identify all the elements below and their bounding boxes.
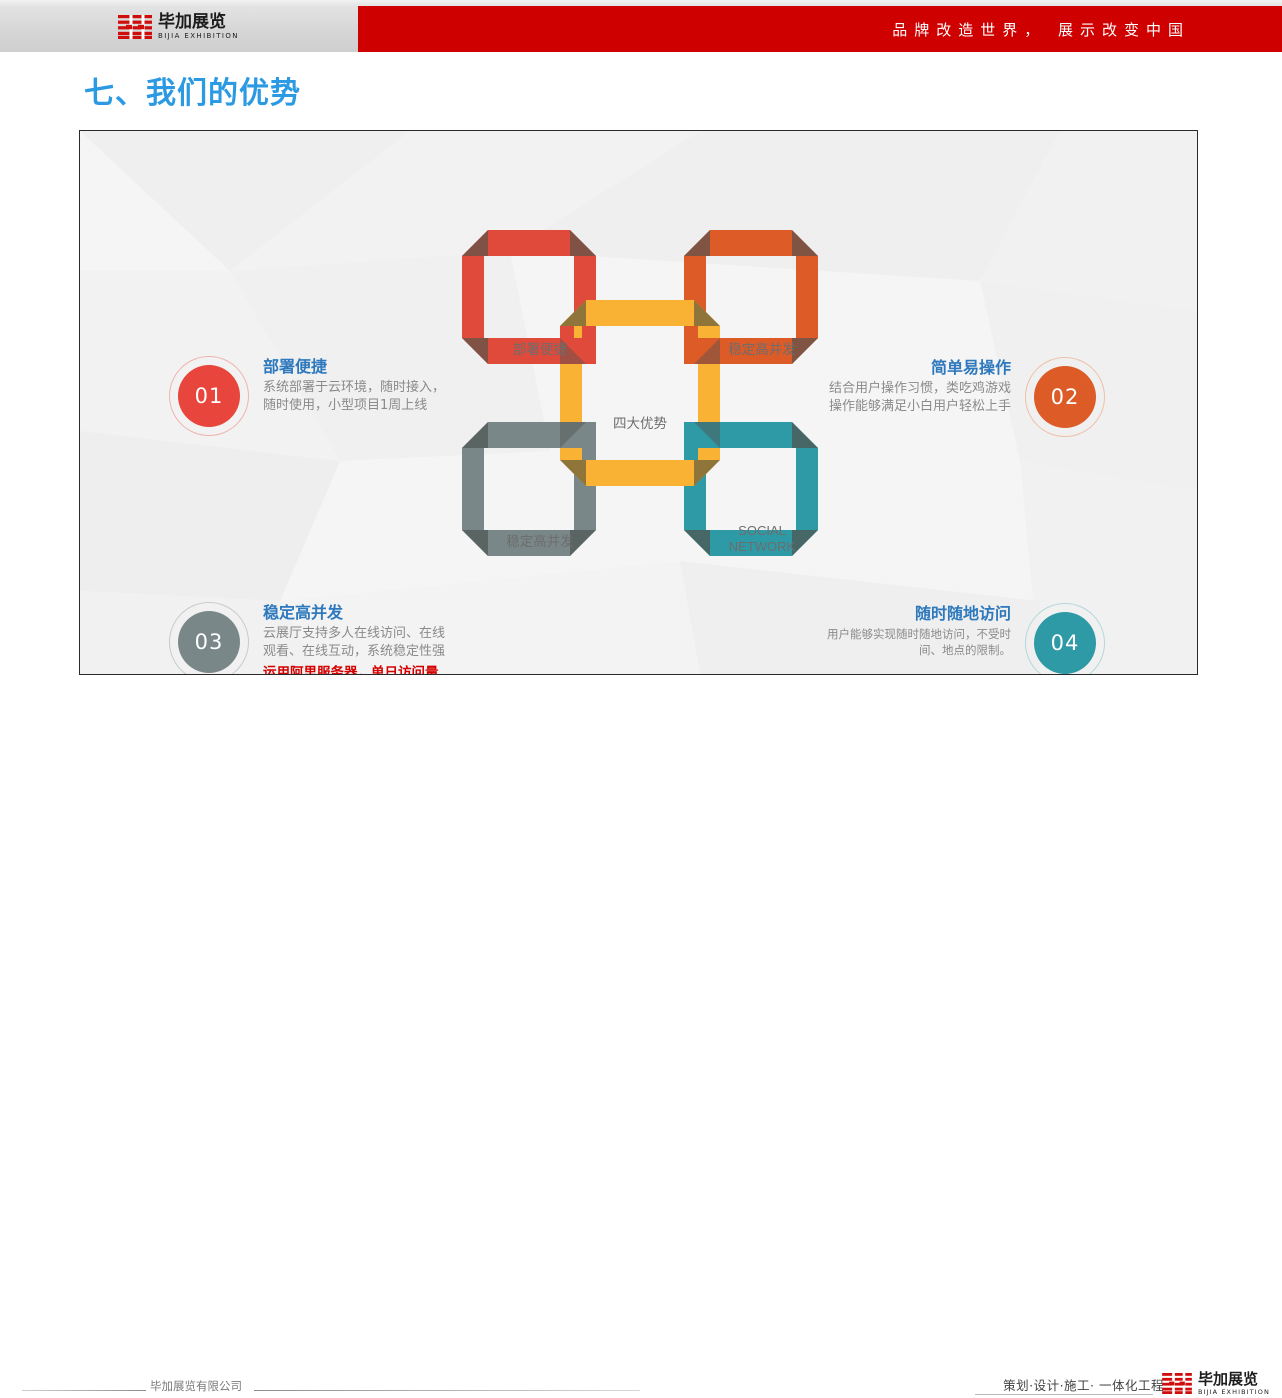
feature-04-body: 用户能够实现随时随地访问，不受时间、地点的限制。 [825, 626, 1011, 659]
page-title: 七、我们的优势 [84, 68, 301, 112]
bijia-mark-svg [118, 15, 152, 39]
chain-label-bottom-right: SOCIAL NETWORK [706, 523, 818, 556]
feature-02-ring: 02 [1025, 357, 1105, 437]
footer-logo-text-en: BIJIA EXHIBITION [1198, 1389, 1270, 1396]
feature-block-04[interactable]: 随时随地访问 用户能够实现随时随地访问，不受时间、地点的限制。 04 [825, 603, 1105, 675]
header-slogan: 品牌改造世界， 展示改变中国 [892, 6, 1190, 52]
feature-04-number-badge: 04 [1034, 612, 1096, 674]
feature-01-body: 系统部署于云环境，随时接入，随时使用，小型项目1周上线 [263, 379, 445, 416]
chain-label-bottom-left: 稳定高并发 [484, 534, 596, 551]
bijia-logo-icon [118, 15, 152, 39]
footer-divider-right [254, 1390, 640, 1391]
footer-tagline-underline [975, 1394, 1153, 1395]
logo-text-en: BIJIA EXHIBITION [158, 33, 239, 40]
footer-brand-logo: 毕加展览 BIJIA EXHIBITION [1162, 1372, 1270, 1396]
page-footer: 毕加展览有限公司 策划·设计·施工· 一体化工程 毕加展览 BIJIA EXHI… [0, 684, 1282, 721]
app-header: 毕加展览 BIJIA EXHIBITION 品牌改造世界， 展示改变中国 [0, 0, 1282, 52]
feature-03-number-badge: 03 [178, 611, 240, 673]
chain-label-top-left: 部署便捷 [484, 342, 596, 359]
feature-01-heading: 部署便捷 [263, 356, 445, 378]
feature-block-01[interactable]: 01 部署便捷 系统部署于云环境，随时接入，随时使用，小型项目1周上线 [169, 356, 445, 436]
logo-text-cn: 毕加展览 [158, 14, 239, 31]
feature-block-03[interactable]: 03 稳定高并发 云展厅支持多人在线访问、在线观看、在线互动，系统稳定性强 运用… [169, 602, 445, 675]
feature-02-heading: 简单易操作 [931, 357, 1011, 379]
chain-center-label: 四大优势 [582, 416, 698, 433]
feature-03-ring: 03 [169, 602, 249, 675]
footer-logo-text-cn: 毕加展览 [1198, 1372, 1270, 1387]
feature-01-number-badge: 01 [178, 365, 240, 427]
bijia-logo-icon-footer [1162, 1373, 1192, 1394]
footer-tagline: 策划·设计·施工· 一体化工程 [1003, 1375, 1164, 1394]
feature-03-heading: 稳定高并发 [263, 602, 445, 624]
feature-01-ring: 01 [169, 356, 249, 436]
feature-03-body: 云展厅支持多人在线访问、在线观看、在线互动，系统稳定性强 [263, 625, 445, 662]
footer-divider-left [22, 1390, 146, 1391]
feature-04-heading: 随时随地访问 [915, 603, 1011, 625]
brand-logo: 毕加展览 BIJIA EXHIBITION [118, 14, 239, 40]
chain-diagram-svg [440, 216, 840, 666]
feature-03-highlight: 运用阿里服务器，单日访问量可以承受五百万 [263, 664, 445, 676]
bijia-mark-svg-footer [1162, 1373, 1192, 1394]
slide-content-panel: 部署便捷 稳定高并发 稳定高并发 SOCIAL NETWORK 四大优势 01 … [79, 130, 1198, 675]
chain-diagram: 部署便捷 稳定高并发 稳定高并发 SOCIAL NETWORK 四大优势 [440, 216, 840, 666]
feature-04-ring: 04 [1025, 603, 1105, 675]
footer-company-name: 毕加展览有限公司 [150, 1378, 242, 1394]
feature-block-02[interactable]: 简单易操作 结合用户操作习惯，类吃鸡游戏操作能够满足小白用户轻松上手 02 [825, 357, 1105, 437]
feature-02-body: 结合用户操作习惯，类吃鸡游戏操作能够满足小白用户轻松上手 [825, 380, 1011, 417]
feature-02-number-badge: 02 [1034, 366, 1096, 428]
chain-label-top-right: 稳定高并发 [706, 342, 818, 359]
